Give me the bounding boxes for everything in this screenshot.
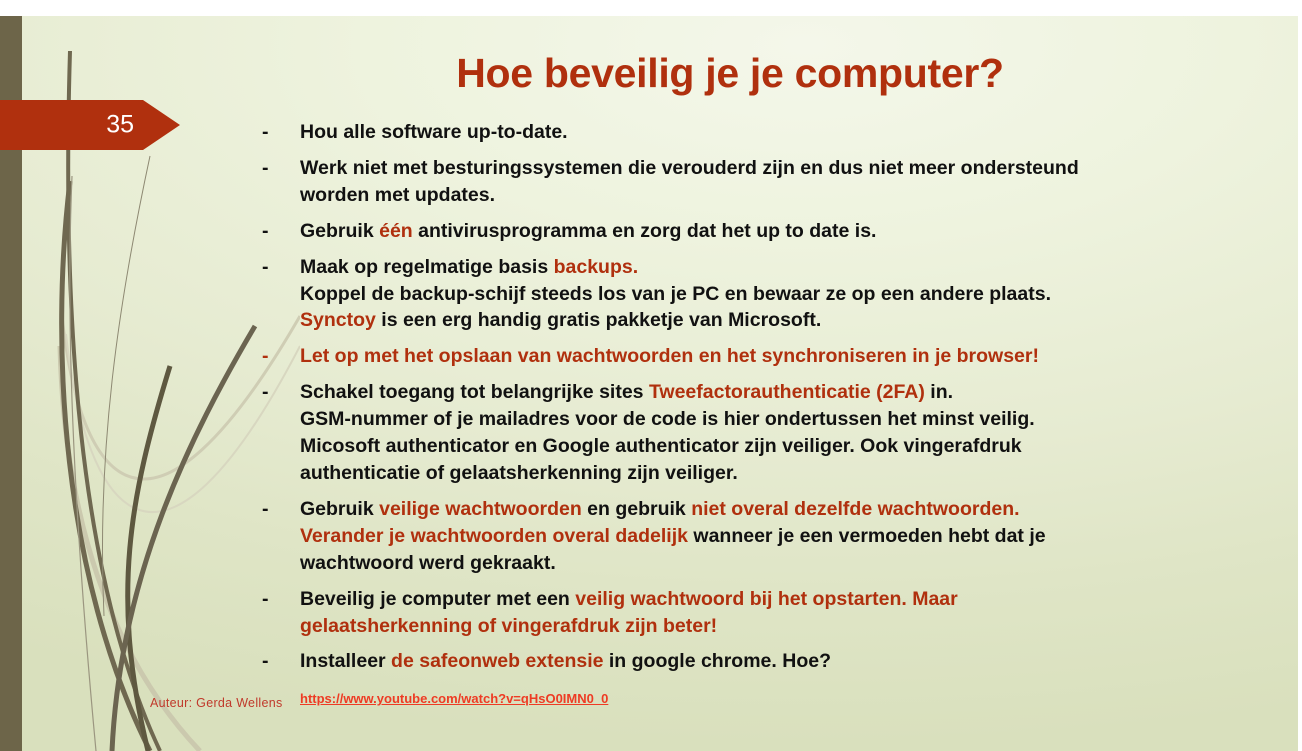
bullet-line: authenticatie of gelaatsherkenning zijn … xyxy=(300,460,1182,487)
text-run: Schakel toegang tot belangrijke sites xyxy=(300,381,649,403)
text-run: Koppel de backup-schijf steeds los van j… xyxy=(300,283,1051,305)
bullet-boot-password: -Beveilig je computer met een veilig wac… xyxy=(262,586,1182,640)
bullet-line: Gebruik veilige wachtwoorden en gebruik … xyxy=(300,496,1182,523)
bullet-dash-icon: - xyxy=(262,155,276,182)
text-run: Beveilig je computer met een xyxy=(300,588,575,610)
bullet-line: Verander je wachtwoorden overal dadelijk… xyxy=(300,523,1182,550)
bullet-outdated-os: -Werk niet met besturingssystemen die ve… xyxy=(262,155,1182,209)
text-run: één xyxy=(379,220,413,242)
bullet-line: wachtwoord werd gekraakt. xyxy=(300,550,1182,577)
bullet-antivirus: -Gebruik één antivirusprogramma en zorg … xyxy=(262,218,1182,245)
text-run: de safeonweb extensie xyxy=(391,650,603,672)
text-run: veilig wachtwoord bij het opstarten. Maa… xyxy=(575,588,957,610)
bullet-dash-icon: - xyxy=(262,218,276,245)
bullet-dash-icon: - xyxy=(262,254,276,281)
bullet-two-factor: -Schakel toegang tot belangrijke sites T… xyxy=(262,379,1182,487)
bullet-text: Beveilig je computer met een veilig wach… xyxy=(300,586,1182,640)
bullet-line: Let op met het opslaan van wachtwoorden … xyxy=(300,343,1182,370)
bullet-line: Schakel toegang tot belangrijke sites Tw… xyxy=(300,379,1182,406)
bullet-line: Micosoft authenticator en Google authent… xyxy=(300,433,1182,460)
bullet-line: gelaatsherkenning of vingerafdruk zijn b… xyxy=(300,613,1182,640)
text-run: Maak op regelmatige basis xyxy=(300,256,554,278)
text-run: wachtwoord werd gekraakt. xyxy=(300,552,556,574)
bullet-dash-icon: - xyxy=(262,379,276,406)
text-run: Hou alle software up-to-date. xyxy=(300,121,568,143)
text-run: antivirusprogramma en zorg dat het up to… xyxy=(413,220,877,242)
text-run: Gebruik xyxy=(300,220,379,242)
text-run: Gebruik xyxy=(300,498,379,520)
bullet-text: Werk niet met besturingssystemen die ver… xyxy=(300,155,1182,209)
slide-number: 35 xyxy=(0,113,134,138)
bullet-list: -Hou alle software up-to-date.-Werk niet… xyxy=(262,119,1182,711)
bullet-dash-icon: - xyxy=(262,119,276,146)
bullet-safeonweb-extension: -Installeer de safeonweb extensie in goo… xyxy=(262,648,1182,675)
bullet-text: Schakel toegang tot belangrijke sites Tw… xyxy=(300,379,1182,487)
bullet-dash-icon: - xyxy=(262,343,276,370)
bullet-line: Beveilig je computer met een veilig wach… xyxy=(300,586,1182,613)
text-run: Synctoy xyxy=(300,309,376,331)
bullet-strong-passwords: -Gebruik veilige wachtwoorden en gebruik… xyxy=(262,496,1182,577)
page-title: Hoe beveilig je je computer? xyxy=(190,52,1270,95)
bullet-dash-icon: - xyxy=(262,586,276,613)
text-run: in google chrome. Hoe? xyxy=(603,650,831,672)
bullet-line: Koppel de backup-schijf steeds los van j… xyxy=(300,281,1182,308)
author-credit: Auteur: Gerda Wellens xyxy=(150,696,283,710)
bullet-text: Gebruik veilige wachtwoorden en gebruik … xyxy=(300,496,1182,577)
slide-number-pennant: 35 xyxy=(0,100,180,150)
bullet-software-updates: -Hou alle software up-to-date. xyxy=(262,119,1182,146)
bullet-line: Werk niet met besturingssystemen die ver… xyxy=(300,155,1182,182)
bullet-text: Installeer de safeonweb extensie in goog… xyxy=(300,648,1182,675)
bullet-line: GSM-nummer of je mailadres voor de code … xyxy=(300,406,1182,433)
bullet-line: Installeer de safeonweb extensie in goog… xyxy=(300,648,1182,675)
youtube-link[interactable]: https://www.youtube.com/watch?v=qHsO0IMN… xyxy=(300,690,608,708)
bullet-dash-icon: - xyxy=(262,496,276,523)
text-run: veilige wachtwoorden xyxy=(379,498,582,520)
bullet-browser-passwords-warning: -Let op met het opslaan van wachtwoorden… xyxy=(262,343,1182,370)
bullet-line: Maak op regelmatige basis backups. xyxy=(300,254,1182,281)
text-run: worden met updates. xyxy=(300,184,495,206)
presentation-slide: 35 Hoe beveilig je je computer? -Hou all… xyxy=(0,16,1298,751)
bullet-text: Maak op regelmatige basis backups.Koppel… xyxy=(300,254,1182,335)
bullet-line: Gebruik één antivirusprogramma en zorg d… xyxy=(300,218,1182,245)
text-run: wanneer je een vermoeden hebt dat je xyxy=(688,525,1046,547)
bullet-backups: -Maak op regelmatige basis backups.Koppe… xyxy=(262,254,1182,335)
text-run: niet overal dezelfde wachtwoorden. xyxy=(691,498,1019,520)
text-run: backups. xyxy=(554,256,639,278)
text-run: Let op met het opslaan van wachtwoorden … xyxy=(300,345,1039,367)
text-run: GSM-nummer of je mailadres voor de code … xyxy=(300,408,1035,430)
text-run: is een erg handig gratis pakketje van Mi… xyxy=(376,309,821,331)
text-run: Installeer xyxy=(300,650,391,672)
bullet-line: Synctoy is een erg handig gratis pakketj… xyxy=(300,307,1182,334)
text-run: Werk niet met besturingssystemen die ver… xyxy=(300,157,1079,179)
text-run: en gebruik xyxy=(582,498,691,520)
bullet-text: Let op met het opslaan van wachtwoorden … xyxy=(300,343,1182,370)
text-run: authenticatie of gelaatsherkenning zijn … xyxy=(300,462,738,484)
text-run: gelaatsherkenning of vingerafdruk zijn b… xyxy=(300,615,717,637)
bullet-text: Hou alle software up-to-date. xyxy=(300,119,1182,146)
text-run: in. xyxy=(925,381,953,403)
bullet-text: Gebruik één antivirusprogramma en zorg d… xyxy=(300,218,1182,245)
text-run: Micosoft authenticator en Google authent… xyxy=(300,435,1022,457)
bullet-line: Hou alle software up-to-date. xyxy=(300,119,1182,146)
bullet-line: worden met updates. xyxy=(300,182,1182,209)
bullet-dash-icon: - xyxy=(262,648,276,675)
text-run: Verander je wachtwoorden overal dadelijk xyxy=(300,525,688,547)
text-run: Tweefactorauthenticatie (2FA) xyxy=(649,381,925,403)
